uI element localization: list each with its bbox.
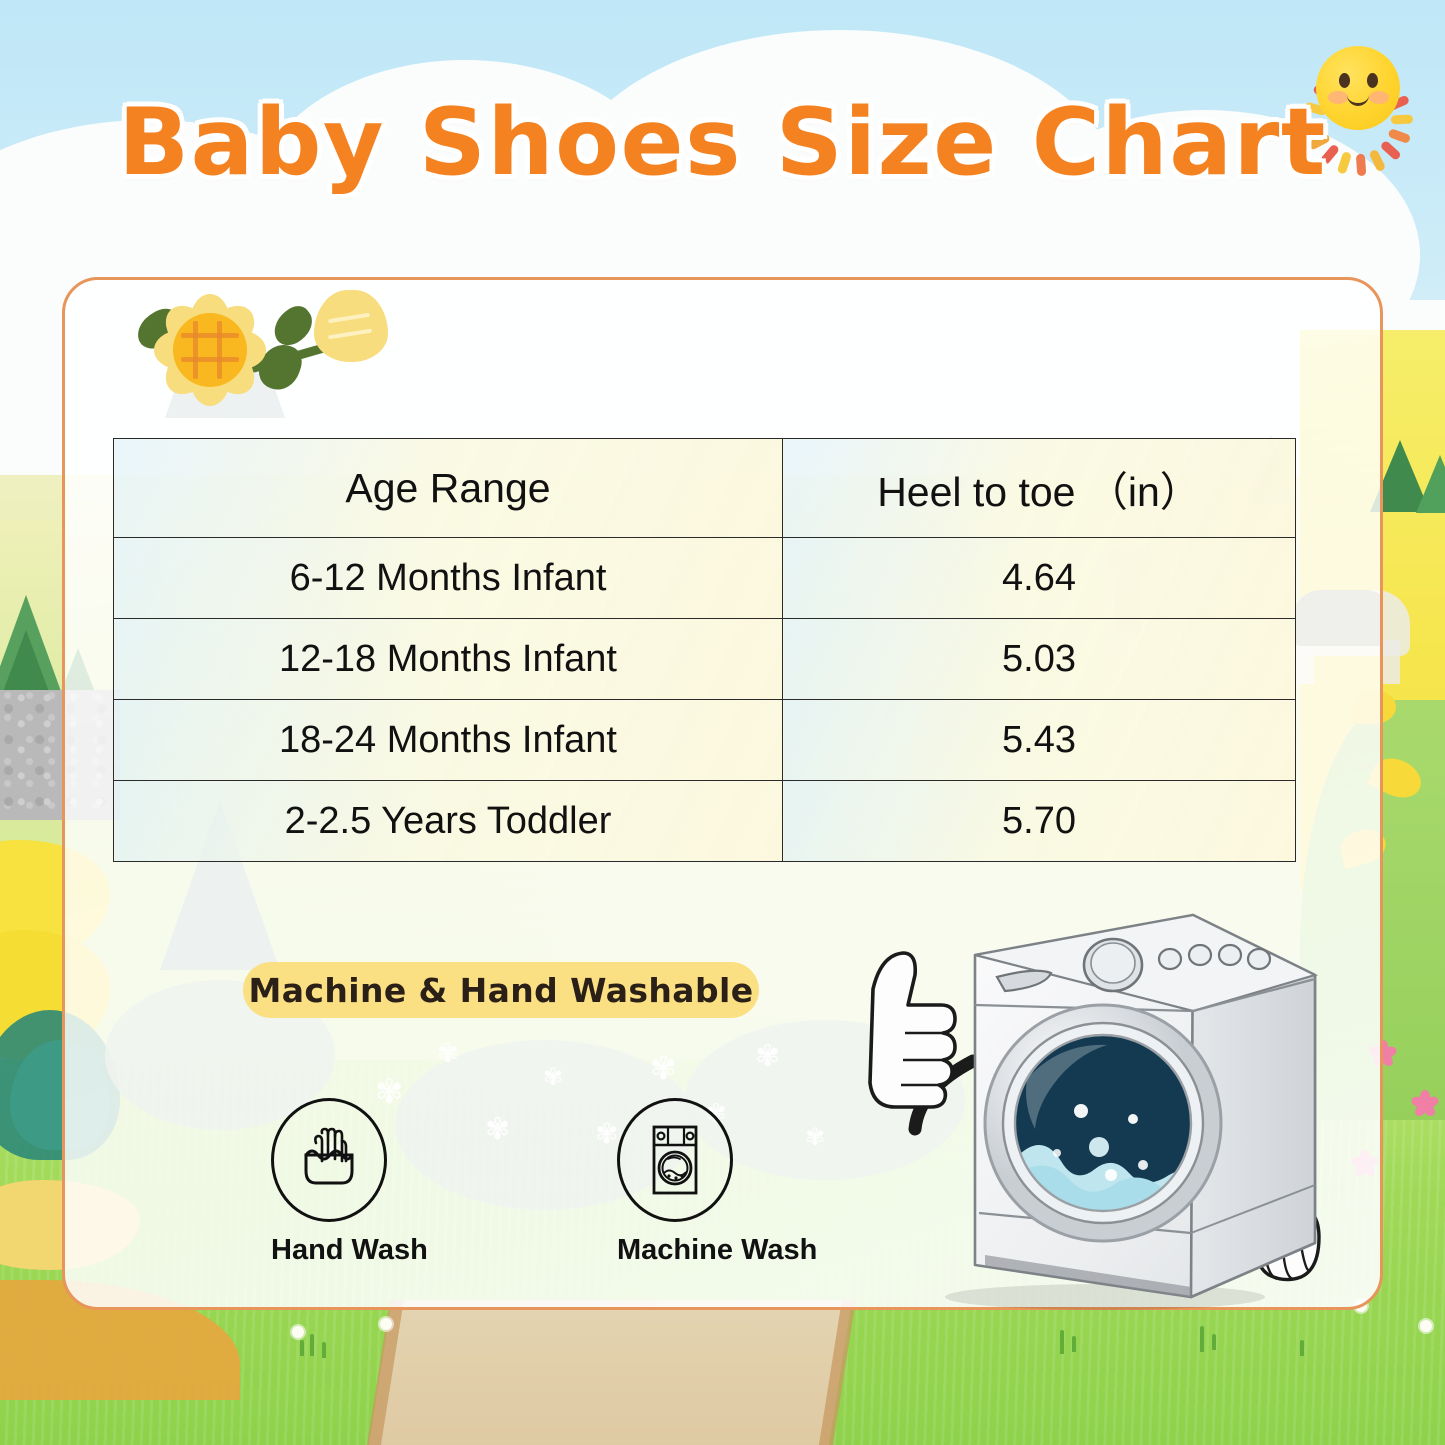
ghost-elephant bbox=[1293, 590, 1383, 646]
machine-wash-glyph bbox=[644, 1123, 706, 1197]
grass-tuft bbox=[1300, 1340, 1304, 1356]
flower-leaf bbox=[267, 300, 320, 351]
sun-eye bbox=[1339, 73, 1350, 88]
dirt-path bbox=[368, 1300, 852, 1445]
cell-heel-to-toe: 5.43 bbox=[783, 700, 1296, 781]
table-row: 2-2.5 Years Toddler 5.70 bbox=[114, 781, 1296, 862]
column-header-heel-to-toe: Heel to toe （in） bbox=[783, 439, 1296, 538]
grass-tuft bbox=[1212, 1334, 1216, 1350]
washable-badge-label: Machine & Hand Washable bbox=[248, 971, 753, 1010]
tulip-bud bbox=[314, 290, 388, 362]
hand-wash-label: Hand Wash bbox=[271, 1234, 383, 1267]
grass-tuft bbox=[322, 1342, 326, 1358]
snowflake-icon: ✾ bbox=[437, 1040, 459, 1066]
column-header-age-range: Age Range bbox=[114, 439, 783, 538]
snowflake-icon: ✾ bbox=[543, 1066, 563, 1090]
daisy-head bbox=[160, 300, 260, 400]
cell-age-range: 12-18 Months Infant bbox=[114, 619, 783, 700]
daisy-icon bbox=[380, 1318, 392, 1330]
daisy-core bbox=[173, 313, 247, 387]
sun-eye bbox=[1367, 73, 1378, 88]
snowflake-icon: ✾ bbox=[595, 1120, 618, 1148]
grass-tuft bbox=[1072, 1336, 1076, 1352]
snowflake-icon: ✾ bbox=[755, 1042, 780, 1072]
hand-wash-glyph bbox=[294, 1127, 364, 1193]
washable-badge: Machine & Hand Washable bbox=[243, 962, 759, 1018]
washing-machine-illustration bbox=[845, 893, 1355, 1313]
infographic-canvas: Baby Shoes Size Chart ✾ ✾ ✾ ✾ ✾ ✾ ✾ ✾ ✾ … bbox=[0, 0, 1445, 1445]
care-icon-hand-wash: Hand Wash bbox=[271, 1098, 383, 1267]
cell-age-range: 18-24 Months Infant bbox=[114, 700, 783, 781]
grass-tuft bbox=[1200, 1326, 1204, 1352]
daisy-icon bbox=[292, 1326, 304, 1338]
grass-tuft bbox=[310, 1334, 314, 1356]
table-row: 6-12 Months Infant 4.64 bbox=[114, 538, 1296, 619]
table-header-row: Age Range Heel to toe （in） bbox=[114, 439, 1296, 538]
snowflake-icon: ✾ bbox=[485, 1115, 510, 1145]
elephant-leg bbox=[1382, 640, 1400, 684]
snowflake-icon: ✾ bbox=[805, 1126, 825, 1150]
daisy-flower-icon bbox=[124, 282, 394, 410]
cell-heel-to-toe: 5.03 bbox=[783, 619, 1296, 700]
hand-wash-icon bbox=[271, 1098, 387, 1222]
cell-age-range: 2-2.5 Years Toddler bbox=[114, 781, 783, 862]
pink-flower-icon bbox=[1412, 1090, 1438, 1116]
daisy-icon bbox=[1420, 1320, 1432, 1332]
table-row: 18-24 Months Infant 5.43 bbox=[114, 700, 1296, 781]
machine-wash-label: Machine Wash bbox=[617, 1234, 729, 1267]
size-chart-table: Age Range Heel to toe （in） 6-12 Months I… bbox=[113, 438, 1296, 862]
grass-tuft bbox=[300, 1340, 304, 1356]
snowflake-icon: ✾ bbox=[650, 1052, 677, 1084]
machine-wash-icon bbox=[617, 1098, 733, 1222]
pine-tree-icon bbox=[1416, 455, 1445, 513]
table-row: 12-18 Months Infant 5.03 bbox=[114, 619, 1296, 700]
grass-tuft bbox=[1060, 1330, 1064, 1354]
cell-heel-to-toe: 4.64 bbox=[783, 538, 1296, 619]
cell-age-range: 6-12 Months Infant bbox=[114, 538, 783, 619]
care-icon-machine-wash: Machine Wash bbox=[617, 1098, 729, 1267]
cell-heel-to-toe: 5.70 bbox=[783, 781, 1296, 862]
thumbs-up-hand bbox=[870, 953, 955, 1107]
page-title: Baby Shoes Size Chart bbox=[0, 88, 1445, 196]
washing-machine-mascot bbox=[845, 893, 1355, 1313]
